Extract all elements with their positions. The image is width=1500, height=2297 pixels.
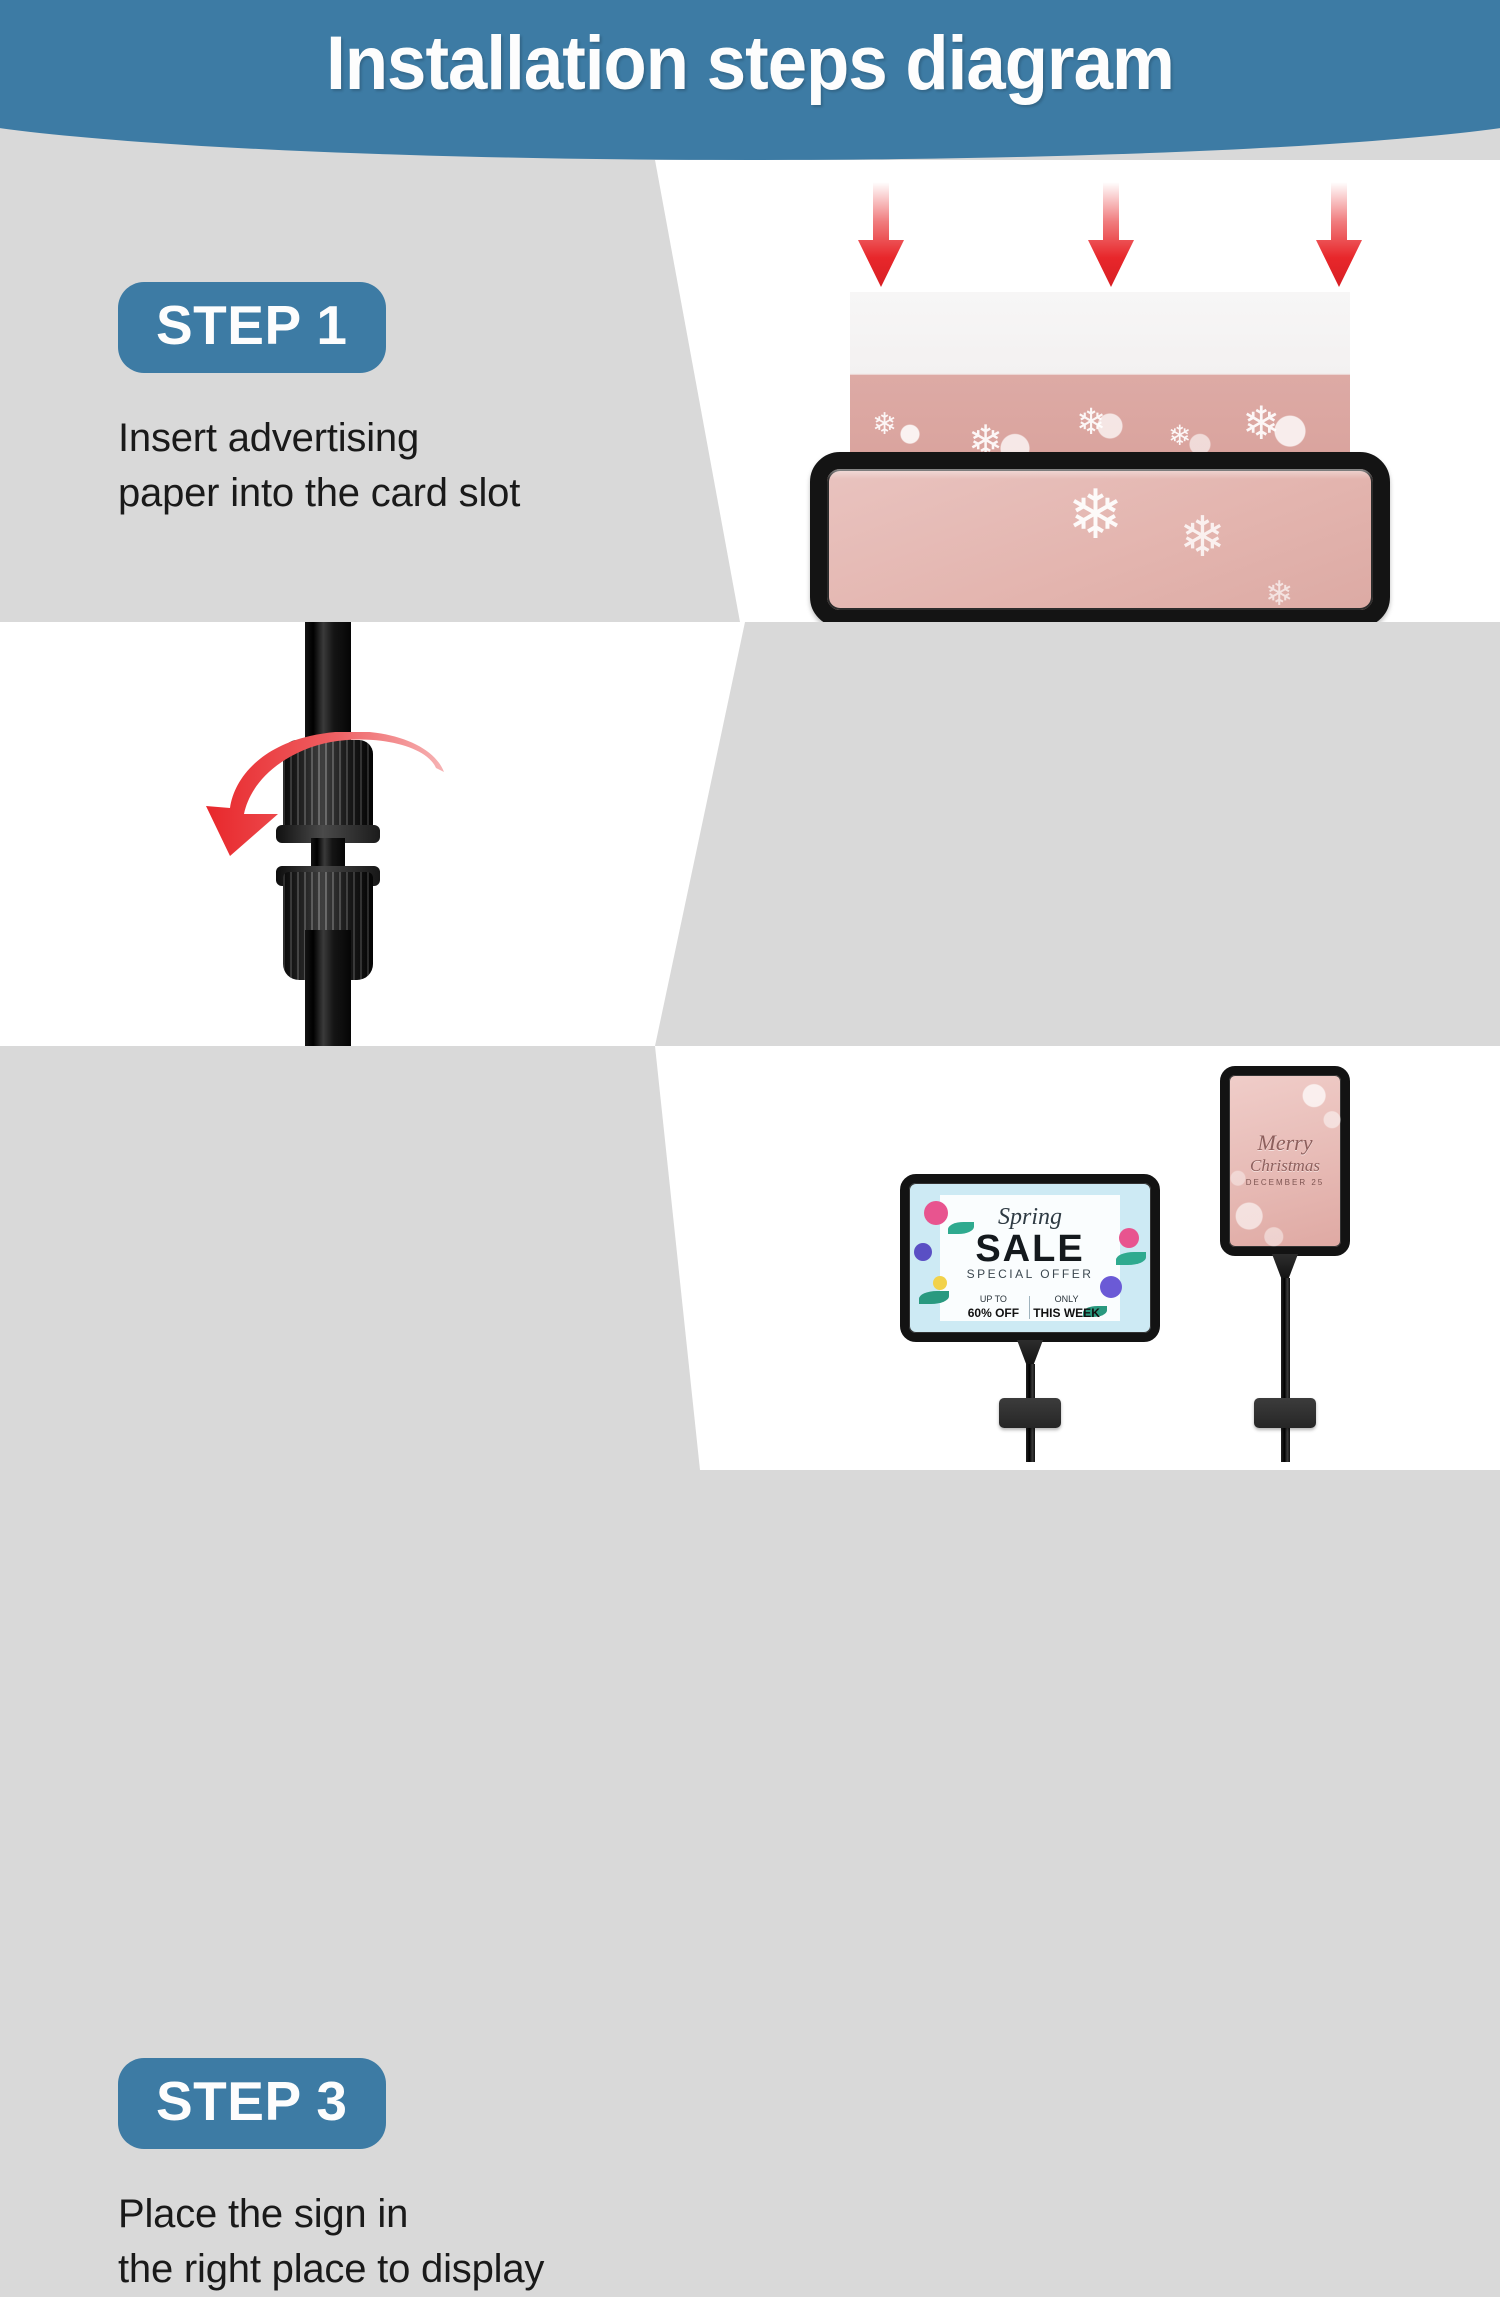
page-title: Installation steps diagram xyxy=(53,20,1448,107)
spring-headline: SALE xyxy=(909,1228,1151,1271)
spring-note-left-small: UP TO xyxy=(980,1294,1007,1304)
spring-notes-row: UP TO 60% OFF ONLY THIS WEEK xyxy=(957,1288,1102,1327)
finished-stands-illustration: Spring SALE SPECIAL OFFER UP TO 60% OFF … xyxy=(600,1046,1500,1470)
step-2-photo-panel xyxy=(0,622,760,1046)
spring-stand-base xyxy=(999,1398,1061,1428)
snowflake-icon: ❄ xyxy=(1242,400,1281,446)
spring-note-right-small: ONLY xyxy=(1055,1294,1079,1304)
rotate-arrow-icon xyxy=(200,732,460,872)
xmas-script-title: Merry xyxy=(1229,1130,1341,1156)
insert-paper-illustration: ❄ ❄ ❄ ❄ ❄ ❄ ❄ ❄ xyxy=(600,160,1500,622)
snowflake-icon: ❄ xyxy=(872,410,897,440)
down-arrow-icon xyxy=(1316,182,1362,287)
step-3-caption: Place the sign in the right place to dis… xyxy=(118,2187,544,2297)
step-row-1: ❄ ❄ ❄ ❄ ❄ ❄ ❄ ❄ STEP 1 Insert advertisin… xyxy=(0,160,1500,622)
spring-note-right-big: THIS WEEK xyxy=(1033,1306,1100,1320)
xmas-stand-pole xyxy=(1281,1278,1290,1462)
pole-lower-section xyxy=(305,930,351,1054)
step-3-photo-panel: Spring SALE SPECIAL OFFER UP TO 60% OFF … xyxy=(600,1046,1500,1470)
spring-note-left: UP TO 60% OFF xyxy=(957,1293,1029,1321)
step-row-3: Spring SALE SPECIAL OFFER UP TO 60% OFF … xyxy=(0,1046,1500,1470)
spring-subhead: SPECIAL OFFER xyxy=(909,1267,1151,1281)
xmas-stand-base xyxy=(1254,1398,1316,1428)
step-3-text-block: STEP 3 Place the sign in the right place… xyxy=(118,2058,544,2297)
spring-note-left-big: 60% OFF xyxy=(968,1306,1019,1320)
snowflake-icon: ❄ xyxy=(1076,404,1106,440)
step-3-badge: STEP 3 xyxy=(118,2058,386,2149)
snowflake-icon: ❄ xyxy=(1265,577,1294,611)
step-1-badge: STEP 1 xyxy=(118,282,386,373)
step-row-2: STEP 2 Connect the knob to snap xyxy=(0,622,1500,1046)
knob-rotation-illustration xyxy=(0,622,760,1046)
xmas-stand-neck xyxy=(1272,1254,1298,1280)
advertising-paper: ❄ ❄ ❄ ❄ ❄ xyxy=(850,292,1350,477)
bottom-gray-strip xyxy=(0,1470,1500,1500)
xmas-date: DECEMBER 25 xyxy=(1229,1178,1341,1187)
spring-note-right: ONLY THIS WEEK xyxy=(1030,1293,1102,1321)
merry-christmas-sign: Merry Christmas DECEMBER 25 xyxy=(1220,1066,1350,1256)
page-header: Installation steps diagram xyxy=(0,0,1500,160)
sign-frame: ❄ ❄ ❄ xyxy=(810,452,1390,627)
snowflake-icon: ❄ xyxy=(1067,481,1124,549)
spring-stand-neck xyxy=(1017,1340,1043,1366)
pole-upper-section xyxy=(305,616,351,746)
step-1-caption: Insert advertising paper into the card s… xyxy=(118,411,520,521)
down-arrow-icon xyxy=(1088,182,1134,287)
step-1-text-block: STEP 1 Insert advertising paper into the… xyxy=(118,282,520,521)
spring-script-title: Spring xyxy=(909,1204,1151,1231)
spring-sale-sign: Spring SALE SPECIAL OFFER UP TO 60% OFF … xyxy=(900,1174,1160,1342)
snowflake-icon: ❄ xyxy=(1179,509,1226,565)
xmas-script-subtitle: Christmas xyxy=(1229,1156,1341,1176)
down-arrow-icon xyxy=(858,182,904,287)
step-1-photo-panel: ❄ ❄ ❄ ❄ ❄ ❄ ❄ ❄ xyxy=(600,160,1500,622)
snowflake-icon: ❄ xyxy=(1168,422,1191,450)
